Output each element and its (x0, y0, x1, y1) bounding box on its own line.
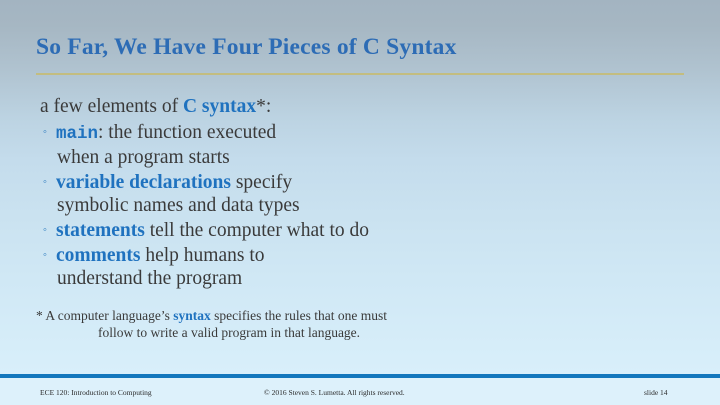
lead-text-after: *: (256, 96, 271, 117)
list-item-text: specify (231, 172, 292, 193)
syntax-bullet-list: ◦main: the function executedwhen a progr… (40, 121, 700, 290)
list-item-text: tell the computer what to do (145, 220, 369, 241)
footer-slide-number: slide 14 (644, 388, 668, 398)
list-item-keyword: main (56, 124, 98, 144)
lead-line: a few elements of C syntax*: (40, 95, 700, 119)
list-item: ◦main: the function executedwhen a progr… (40, 121, 700, 169)
title-divider (36, 73, 684, 75)
footer-course-label: ECE 120: Introduction to Computing (40, 388, 152, 398)
list-item-text: help humans to (140, 245, 264, 266)
footnote-keyword: syntax (173, 308, 211, 323)
bullet-circle-icon: ◦ (43, 171, 47, 194)
bullet-circle-icon: ◦ (43, 219, 47, 242)
lead-text-before: a few elements of (40, 96, 183, 117)
bullet-circle-icon: ◦ (43, 244, 47, 267)
footnote: * A computer language’s syntax specifies… (36, 307, 696, 341)
slide-canvas: So Far, We Have Four Pieces of C Syntax … (0, 0, 720, 405)
page-title: So Far, We Have Four Pieces of C Syntax (36, 34, 457, 61)
list-item-text-line2: symbolic names and data types (57, 194, 700, 217)
list-item: ◦statements tell the computer what to do (40, 219, 700, 242)
list-item-keyword: comments (56, 245, 140, 266)
list-item-text-line2: when a program starts (57, 146, 700, 169)
list-item-keyword: statements (56, 220, 145, 241)
list-item-text: : the function executed (98, 122, 276, 143)
list-item-text-line2: understand the program (57, 267, 700, 290)
slide-body: a few elements of C syntax*: ◦main: the … (40, 95, 700, 290)
footnote-text-after: specifies the rules that one must (211, 308, 387, 323)
bullet-circle-icon: ◦ (43, 121, 47, 144)
list-item: ◦comments help humans tounderstand the p… (40, 244, 700, 290)
footer-copyright-label: © 2016 Steven S. Lumetta. All rights res… (264, 388, 405, 398)
footnote-text-before: * A computer language’s (36, 308, 173, 323)
list-item: ◦variable declarations specifysymbolic n… (40, 171, 700, 217)
lead-keyword: C syntax (183, 96, 256, 117)
list-item-keyword: variable declarations (56, 172, 231, 193)
footnote-text-line2: follow to write a valid program in that … (98, 324, 696, 341)
